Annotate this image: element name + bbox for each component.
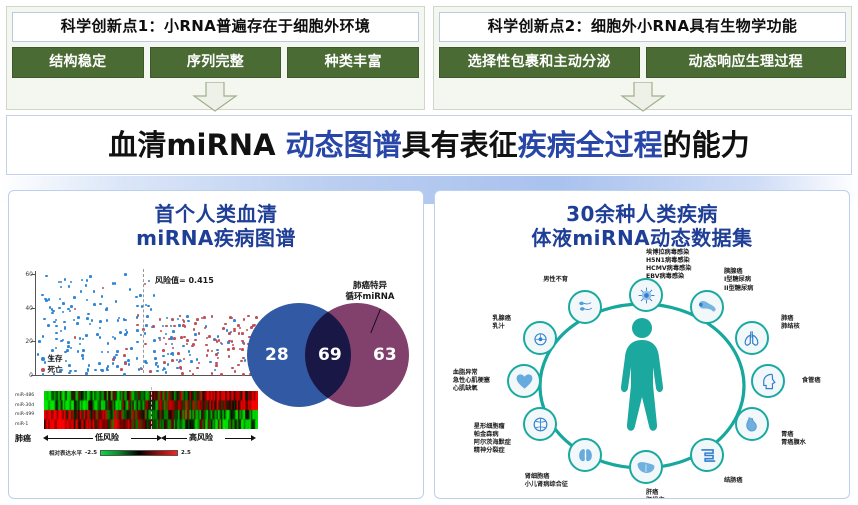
scatter-legend-death: 死亡 [41,364,63,375]
disease-node-virus[interactable] [629,278,663,312]
heatmap-risk-axis: 肺癌 低风险 高风险 [15,433,265,445]
scatter-point [237,364,240,367]
scatter-point [167,353,170,356]
scatter-point [186,339,189,342]
scatter-point [53,321,56,324]
innovation-2-title: 科学创新点2：细胞外小RNA具有生物学功能 [439,12,846,42]
scatter-point [159,318,162,321]
scatter-point [227,348,230,351]
scatter-point [229,316,232,319]
scatter-point [178,361,181,364]
scatter-point [82,338,85,341]
scatter-point [60,281,63,284]
scatter-point [86,317,89,320]
scatter-point [144,283,147,286]
scatter-point [136,329,139,332]
scatter-point [47,324,50,327]
scatter-point [211,315,214,318]
scatter-point [220,373,223,376]
scatter-point [214,369,217,372]
disease-label-line: 精神分裂症 [474,447,511,455]
scatter-point [182,345,185,348]
scatter-point [138,368,141,371]
scatter-point [192,343,195,346]
scatter-point [228,355,231,358]
scatter-point [99,327,102,330]
scatter-point [70,281,73,284]
disease-node-sperm[interactable] [568,290,602,324]
colorbar-min: -2.5 [85,450,97,456]
scatter-point [237,324,240,327]
scatter-point [226,329,229,332]
innovation-1-title: 科学创新点1：小RNA普遍存在于细胞外环境 [12,12,419,42]
scatter-point [63,321,66,324]
risk-value-annotation: 风险值= 0.415 [155,275,214,286]
scatter-points-layer [36,271,257,375]
scatter-point [124,273,127,276]
sperm-icon [576,297,595,316]
disease-label-line: 肝损伤 [646,497,665,499]
scatter-point [43,318,46,321]
scatter-point [101,295,104,298]
scatter-point [215,353,218,356]
scatter-point [183,336,186,339]
scatter-point [67,341,70,344]
disease-node-heart[interactable] [507,364,541,398]
scatter-point [114,282,117,285]
scatter-point [74,308,77,311]
scatter-point [194,339,197,342]
scatter-point [198,362,201,365]
disease-label-line: 小儿肾病综合征 [525,481,568,489]
scatter-point [124,319,127,322]
venn-count-left: 28 [265,345,289,365]
disease-label-line: I型糖尿病 [724,276,753,284]
down-arrow-left-icon [192,82,238,112]
scatter-point [196,367,199,370]
down-arrow-right-icon [620,82,666,112]
scatter-point [156,370,159,373]
disease-label: 肾细胞癌小儿肾病综合征 [525,473,568,489]
scatter-point [136,324,139,327]
scatter-point [51,349,54,352]
scatter-point [140,334,143,337]
right-panel-title-line1: 30余种人类疾病 [435,203,849,227]
scatter-point [162,349,165,352]
scatter-point [76,322,79,325]
legend-survival-label: 生存 [48,354,63,363]
left-panel-title: 首个人类血清 miRNA疾病图谱 [9,191,423,250]
scatter-point [119,331,122,334]
scatter-point [238,332,241,335]
scatter-point [231,367,234,370]
scatter-point [77,350,80,353]
stomach-icon [742,415,761,434]
innovation-2-chip-1: 动态响应生理过程 [646,47,847,78]
scatter-point [135,296,138,299]
scatter-point [73,319,76,322]
heatmap-row-label-0: miR-486 [15,391,43,401]
heatmap-colorbar: 相对表达水平 -2.5 2.5 [49,447,259,459]
scatter-point [99,336,102,339]
scatter-point [241,332,244,335]
disease-label-line: HCMV病毒感染 [646,265,691,273]
intestine-icon [698,446,717,465]
scatter-point [80,290,83,293]
scatter-point [124,333,127,336]
scatter-point [215,364,218,367]
left-panel-title-line2: miRNA疾病图谱 [9,227,423,251]
scatter-point [165,333,168,336]
scatter-point [94,369,97,372]
heatmap-axis-high-risk: 高风险 [189,432,213,443]
lung-icon [742,329,761,348]
disease-label-line: H5N1病毒感染 [646,257,691,265]
scatter-point [107,342,110,345]
liver-icon [636,459,656,476]
right-panel-title: 30余种人类疾病 体液miRNA动态数据集 [435,191,849,250]
results-panels: 首个人类血清 miRNA疾病图谱 0 20 40 60 风险值= 0.415 [0,190,858,505]
disease-label-line: 阿尔茨海默症 [474,439,511,447]
scatter-point [64,327,67,330]
disease-label-line: 肺癌 [781,315,800,323]
scatter-point [196,358,199,361]
scatter-point [93,303,96,306]
headline-part-4: 疾病全过程 [518,128,663,162]
scatter-point [170,338,173,341]
disease-label-line: 帕金森病 [474,431,511,439]
breast-icon [531,329,550,348]
disease-label-line: 肺结核 [781,323,800,331]
scatter-point [106,367,109,370]
venn-diagram: 肺癌特异 循环miRNA 28 69 63 [247,287,415,419]
scatter-point [209,361,212,364]
legend-death-label: 死亡 [48,365,63,374]
headline-part-2: 动态图谱 [286,128,402,162]
headline-part-1: 血清miRNA [108,128,285,162]
scatter-point [85,334,88,337]
scatter-point [180,368,183,371]
scatter-point [112,282,115,285]
scatter-point [198,332,201,335]
scatter-point [106,319,109,322]
disease-label: 星形细胞瘤帕金森病阿尔茨海默症精神分裂症 [474,423,511,456]
scatter-point [207,349,210,352]
scatter-point [82,357,85,360]
innovation-1-chip-1: 序列完整 [150,47,282,78]
scatter-point [216,349,219,352]
scatter-point [136,357,139,360]
disease-label-line: 胃癌 [781,431,806,439]
scatter-point [144,332,147,335]
innovation-1-chip-2: 种类丰富 [287,47,419,78]
disease-node-stomach[interactable] [735,407,769,441]
scatter-point [159,339,162,342]
scatter-point [58,307,61,310]
scatter-point [244,359,247,362]
disease-label-line: 星形细胞瘤 [474,423,511,431]
scatter-point [239,327,242,330]
scatter-point [64,278,67,281]
scatter-point [86,299,89,302]
scatter-point [147,305,150,308]
disease-label: 肺癌肺结核 [781,315,800,331]
left-panel-serum-mirna-atlas: 首个人类血清 miRNA疾病图谱 0 20 40 60 风险值= 0.415 [8,190,424,499]
scatter-x-axis [35,375,257,376]
scatter-point [217,357,220,360]
colorbar-title: 相对表达水平 [49,449,82,457]
pancreas-icon [697,298,717,316]
scatter-point [190,360,193,363]
human-silhouette-icon [614,315,670,435]
scatter-point [165,371,168,374]
scatter-point [116,350,119,353]
scatter-point [243,318,246,321]
scatter-point [107,351,110,354]
scatter-point [233,319,236,322]
scatter-point [79,343,82,346]
scatter-point [85,284,88,287]
scatter-point [221,343,224,346]
scatter-point [45,275,48,278]
scatter-point [206,354,209,357]
scatter-point [144,343,147,346]
scatter-point [51,312,54,315]
scatter-point [242,373,245,376]
scatter-point [125,348,128,351]
scatter-point [79,337,82,340]
scatter-point [163,337,166,340]
scatter-point [55,325,58,328]
scatter-point [99,303,102,306]
scatter-point [149,370,152,373]
disease-label-line: 胃癌腹水 [781,439,806,447]
scatter-point [162,325,165,328]
heatmap-row-labels: miR-486 miR-30d miR-499 miR-1 [15,391,43,429]
scatter-point [171,343,174,346]
heatmap-row-label-1: miR-30d [15,401,43,411]
scatter-point [171,318,174,321]
scatter-point [69,310,72,313]
right-panel-disease-dataset: 30余种人类疾病 体液miRNA动态数据集 埃博拉病毒感染H5N1病毒感染HCM… [434,190,850,499]
scatter-point [203,316,206,319]
scatter-point [234,370,237,373]
scatter-point [136,305,139,308]
scatter-point [146,315,149,318]
scatter-point [117,319,120,322]
scatter-point [74,370,77,373]
disease-label-line: II型糖尿病 [724,285,753,293]
disease-label: 胃癌胃癌腹水 [781,431,806,447]
scatter-point [89,275,92,278]
scatter-point [180,336,183,339]
scatter-point [68,372,71,375]
scatter-point [68,285,71,288]
scatter-point [124,362,127,365]
scatter-point [230,331,233,334]
scatter-point [153,294,156,297]
heatmap-threshold-line [151,387,152,429]
scatter-point [172,353,175,356]
scatter-point [41,294,44,297]
scatter-point [166,317,169,320]
scatter-point [183,320,186,323]
heatmap-group-label: 肺癌 [15,433,31,444]
scatter-point [85,372,88,375]
main-headline-text: 血清miRNA 动态图谱具有表征疾病全过程的能力 [108,131,749,160]
scatter-point [217,335,220,338]
scatter-point [60,330,63,333]
disease-label-line: 埃博拉病毒感染 [646,249,691,257]
scatter-point [93,290,96,293]
scatter-point [82,349,85,352]
disease-label: 血脂异常急性心肌梗塞心肌缺氧 [453,369,490,394]
scatter-point [154,357,157,360]
scatter-point [113,356,116,359]
scatter-point [145,362,148,365]
scatter-point [186,315,189,318]
scatter-point [189,354,192,357]
scatter-point [228,340,231,343]
scatter-point [222,327,225,330]
heatmap-row-label-2: miR-499 [15,410,43,420]
scatter-legend-survival: 生存 [41,353,63,364]
scatter-point [170,325,173,328]
scatter-point [172,347,175,350]
scatter-point [70,347,73,350]
scatter-point [240,360,243,363]
disease-label: 胰腺癌I型糖尿病II型糖尿病 [724,268,753,293]
scatter-point [62,311,65,314]
scatter-point [123,373,126,376]
scatter-point [151,326,154,329]
scatter-point [233,328,236,331]
right-panel-title-line2: 体液miRNA动态数据集 [435,227,849,251]
risk-threshold-line [143,269,144,373]
colorbar-max: 2.5 [181,450,191,456]
left-panel-figure: 0 20 40 60 风险值= 0.415 生存 死亡 [9,269,423,499]
main-headline-banner: 血清miRNA 动态图谱具有表征疾病全过程的能力 [6,115,852,175]
scatter-point [181,372,184,375]
disease-label-line: 急性心肌梗塞 [453,377,490,385]
scatter-point [145,324,148,327]
scatter-point [167,363,170,366]
scatter-point [201,317,204,320]
disease-node-lung[interactable] [735,321,769,355]
scatter-point [196,318,199,321]
disease-label: 肝癌肝损伤 [646,489,665,499]
scatter-point [231,340,234,343]
scatter-point [139,294,142,297]
brain-icon [531,415,550,434]
scatter-point [101,369,104,372]
scatter-point [37,353,40,356]
innovation-points-row: 科学创新点1：小RNA普遍存在于细胞外环境 结构稳定 序列完整 种类丰富 科学创… [0,0,858,110]
scatter-point [70,305,73,308]
scatter-point [163,361,166,364]
scatter-point [150,308,153,311]
innovation-2-chips: 选择性包裹和主动分泌 动态响应生理过程 [439,47,846,78]
scatter-point [241,348,244,351]
scatter-point [39,340,42,343]
disease-label: 乳腺癌乳汁 [492,315,511,331]
disease-label-line: 男性不育 [543,276,568,284]
scatter-point [165,325,168,328]
scatter-point [73,296,76,299]
venn-annotation-label: 肺癌特异 循环miRNA [327,281,413,302]
heart-icon [515,372,534,391]
disease-node-pancreas[interactable] [690,290,724,324]
scatter-point [68,364,71,367]
scatter-point [123,354,126,357]
scatter-point [194,333,197,336]
scatter-point [55,332,58,335]
scatter-point [172,330,175,333]
scatter-point [177,318,180,321]
left-panel-title-line1: 首个人类血清 [9,203,423,227]
scatter-point [211,350,214,353]
disease-node-head[interactable] [751,364,785,398]
scatter-point [165,343,168,346]
scatter-point [77,316,80,319]
venn-label-line1: 肺癌特异 [327,281,413,292]
scatter-point [153,339,156,342]
scatter-point [99,320,102,323]
disease-label-line: 心肌缺氧 [453,385,490,393]
scatter-point [157,365,160,368]
scatter-point [160,330,163,333]
scatter-point [62,302,65,305]
disease-label-line: 食管癌 [802,377,821,385]
disease-node-liver[interactable] [629,450,663,484]
scatter-point [189,370,192,373]
disease-label: 食管癌 [802,377,821,385]
scatter-point [136,341,139,344]
headline-part-5: 的能力 [663,128,750,162]
disease-label: 结肠癌 [724,477,743,485]
scatter-point [136,316,139,319]
risk-scatter-plot: 0 20 40 60 风险值= 0.415 生存 死亡 [15,269,260,381]
disease-wheel-figure: 埃博拉病毒感染H5N1病毒感染HCMV病毒感染EBV病毒感染胰腺癌I型糖尿病II… [435,269,849,499]
scatter-point [193,328,196,331]
scatter-point [211,372,214,375]
scatter-point [241,340,244,343]
scatter-point [148,280,151,283]
scatter-point [48,298,51,301]
venn-count-right: 63 [373,345,397,365]
scatter-point [130,347,133,350]
scatter-point [74,336,77,339]
scatter-point [179,315,182,318]
scatter-point [153,350,156,353]
scatter-point [81,279,84,282]
scatter-point [60,286,63,289]
head-icon [759,372,778,391]
scatter-point [112,362,115,365]
venn-count-overlap: 69 [318,345,342,365]
disease-label: 男性不育 [543,276,568,284]
scatter-point [232,347,235,350]
scatter-point [101,351,104,354]
scatter-point [120,368,123,371]
disease-label-line: EBV病毒感染 [646,273,691,281]
colorbar-gradient [100,450,178,456]
mirna-expression-heatmap: miR-486 miR-30d miR-499 miR-1 肺癌 低风险 [15,387,265,453]
scatter-point [176,367,179,370]
scatter-point [177,352,180,355]
scatter-point [98,362,101,365]
scatter-point [171,359,174,362]
